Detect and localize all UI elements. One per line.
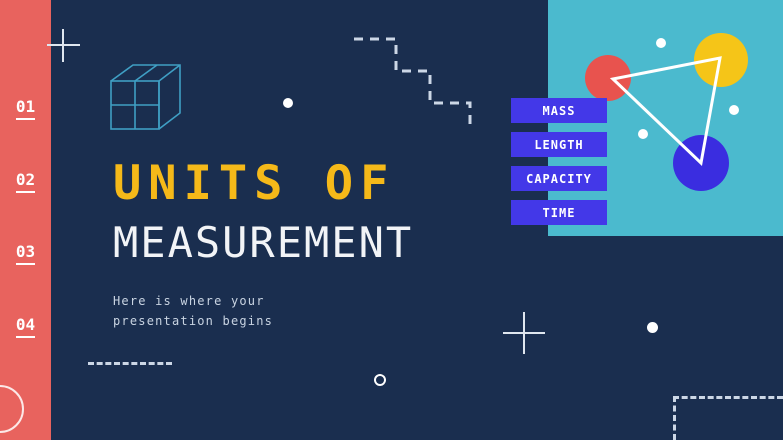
sidebar-item-02[interactable]: 02 [0,170,51,193]
cube-icon [110,63,182,133]
unit-button-mass[interactable]: MASS [511,98,607,123]
cross-icon [47,29,80,62]
unit-button-capacity[interactable]: CAPACITY [511,166,607,191]
decor-dot [283,98,293,108]
unit-button-length[interactable]: LENGTH [511,132,607,157]
presentation-slide: MASS LENGTH CAPACITY TIME UNITS O [0,0,783,440]
sidebar-item-label: 04 [16,315,35,338]
decor-dot [656,38,666,48]
page-title-line2: MEASUREMENT [113,222,413,264]
sidebar-item-label: 01 [16,97,35,120]
unit-button-label: MASS [543,104,576,118]
unit-button-label: LENGTH [534,138,583,152]
sidebar: 01 02 03 04 [0,0,51,440]
sidebar-item-label: 02 [16,170,35,193]
decor-dot [638,129,648,139]
decor-dot [729,105,739,115]
sidebar-item-04[interactable]: 04 [0,315,51,338]
decor-ring [374,374,386,386]
unit-button-label: TIME [543,206,576,220]
unit-button-label: CAPACITY [526,172,592,186]
dashed-corner-bracket [673,396,783,440]
sidebar-item-03[interactable]: 03 [0,242,51,265]
page-title-line1: UNITS OF [113,160,395,207]
decor-dot [647,322,658,333]
page-subtitle-line: Here is where your [113,292,273,312]
page-subtitle: Here is where yourpresentation begins [113,292,273,332]
sidebar-item-label: 03 [16,242,35,265]
page-subtitle-line: presentation begins [113,312,273,332]
sidebar-item-01[interactable]: 01 [0,97,51,120]
cross-icon [503,312,545,354]
decor-ring [0,385,24,433]
unit-button-time[interactable]: TIME [511,200,607,225]
dashed-line [88,362,172,365]
staircase-icon [352,33,482,128]
